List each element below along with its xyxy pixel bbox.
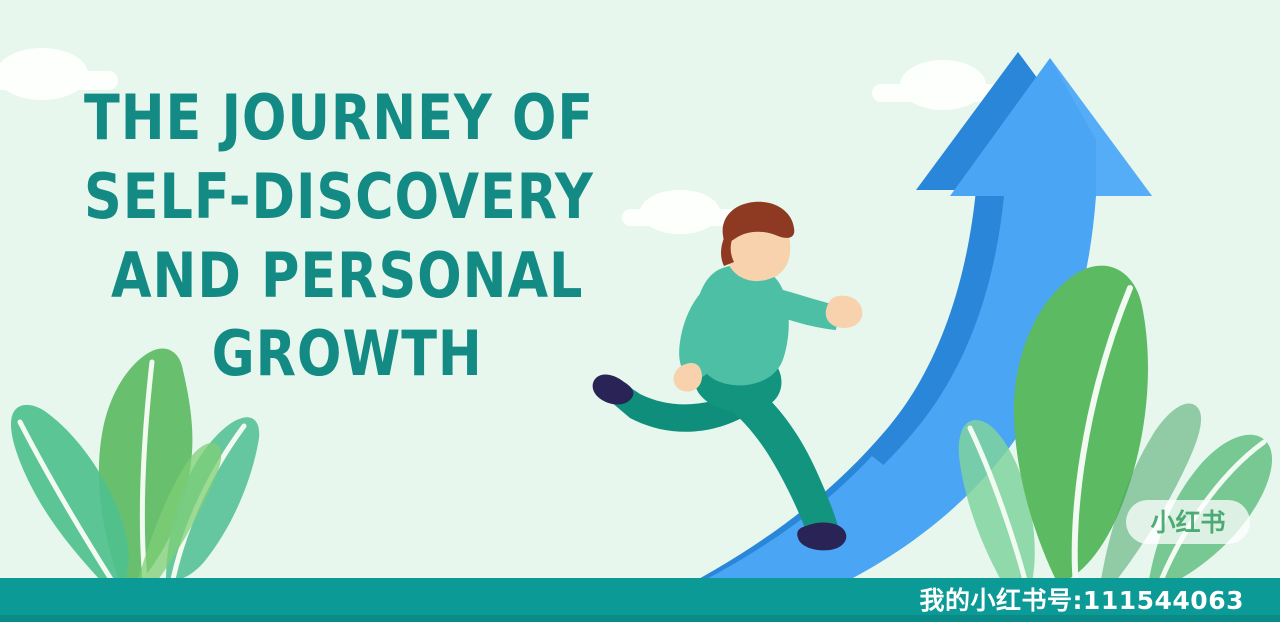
- runner-hand-front: [826, 296, 863, 328]
- xiaohongshu-watermark-badge: 小红书: [1126, 500, 1250, 544]
- headline-line-2: Self-Discovery: [84, 167, 610, 228]
- headline-line-3: and Personal: [84, 246, 610, 307]
- runner-shoe-front: [797, 523, 846, 551]
- page-title: The Journey of Self-Discovery and Person…: [84, 88, 644, 403]
- runner-hand-back: [674, 363, 702, 392]
- poster-canvas: The Journey of Self-Discovery and Person…: [0, 0, 1280, 640]
- headline-line-4: Growth: [84, 324, 610, 385]
- xiaohongshu-logo-text: 小红书: [1150, 510, 1225, 535]
- footer-account-bar: 我的小红书号:111544063: [0, 578, 1280, 622]
- headline-line-1: The Journey of: [84, 88, 610, 149]
- account-id-text: 我的小红书号:111544063: [919, 588, 1244, 613]
- bottom-white-strip: [0, 622, 1280, 640]
